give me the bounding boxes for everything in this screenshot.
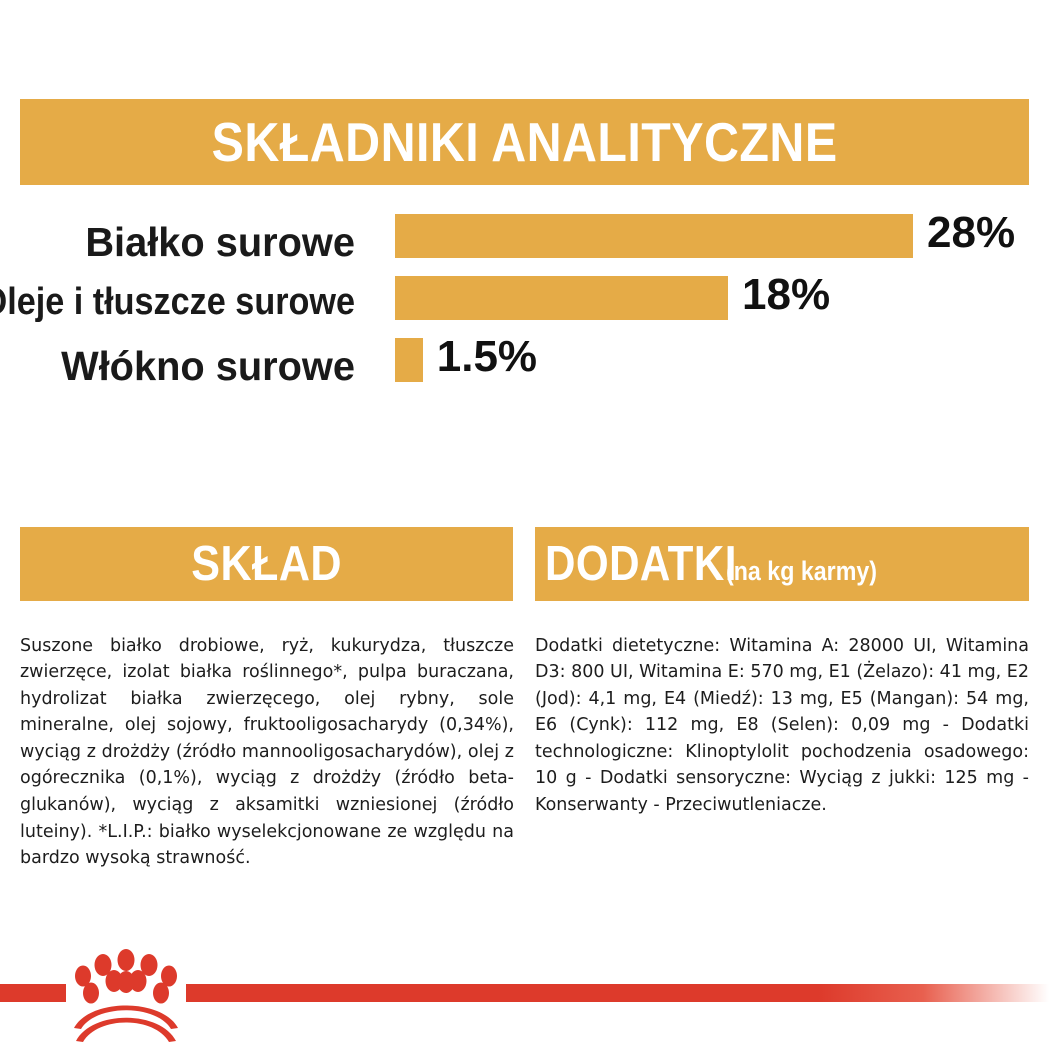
section-title-additives: DODATKI <box>545 540 737 589</box>
additives-body-text: Dodatki dietetyczne: Witamina A: 28000 U… <box>535 633 1029 819</box>
chart-bar <box>395 214 913 258</box>
chart-bar <box>395 276 728 320</box>
section-header-analytical: SKŁADNIKI ANALITYCZNE <box>20 99 1029 185</box>
chart-bar-value: 28% <box>927 208 1015 258</box>
chart-row: Włókno surowe 1.5% <box>0 330 1049 392</box>
analytical-bar-chart: Białko surowe 28% Oleje i tłuszcze surow… <box>0 206 1049 392</box>
chart-row-label: Białko surowe <box>85 222 355 262</box>
chart-bar-value: 18% <box>742 270 830 320</box>
section-title-additives-suffix: (na kg karmy) <box>726 558 877 599</box>
chart-row-label: Włókno surowe <box>61 346 355 386</box>
chart-row: Białko surowe 28% <box>0 206 1049 268</box>
product-label-page: SKŁADNIKI ANALITYCZNE Białko surowe 28% … <box>0 0 1049 1049</box>
composition-body-text: Suszone białko drobiowe, ryż, kukurydza,… <box>20 633 514 872</box>
chart-bar-value: 1.5% <box>437 332 537 382</box>
chart-row-label: Oleje i tłuszcze surowe <box>0 282 355 322</box>
chart-row: Oleje i tłuszcze surowe 18% <box>0 268 1049 330</box>
section-header-additives: DODATKI (na kg karmy) <box>535 527 1029 601</box>
section-title-analytical: SKŁADNIKI ANALITYCZNE <box>212 115 838 170</box>
section-title-composition: SKŁAD <box>191 540 342 589</box>
chart-bar <box>395 338 423 382</box>
royal-canin-crown-icon <box>66 946 186 1046</box>
section-header-composition: SKŁAD <box>20 527 513 601</box>
